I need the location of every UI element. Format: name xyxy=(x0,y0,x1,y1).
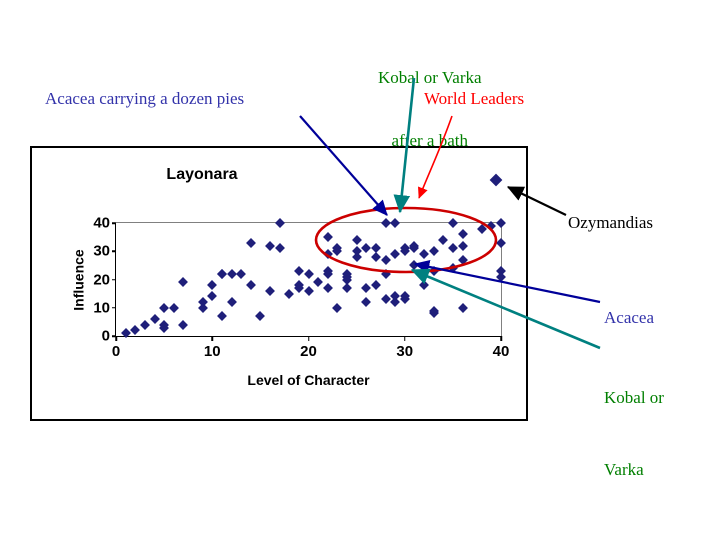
annotation-acacea: Acacea xyxy=(604,307,654,328)
scatter-point xyxy=(496,238,506,248)
scatter-point xyxy=(304,286,314,296)
y-axis-title: Influence xyxy=(71,249,87,310)
scatter-point xyxy=(275,218,285,228)
scatter-point xyxy=(227,297,237,307)
scatter-point xyxy=(304,269,314,279)
scatter-point xyxy=(496,218,506,228)
scatter-point xyxy=(371,280,381,290)
scatter-point xyxy=(381,269,391,279)
y-tick-label: 40 xyxy=(93,215,110,232)
annotation-kobal-varka-line2: Varka xyxy=(604,458,664,482)
x-tick-mark xyxy=(115,336,117,341)
plot-area: 010203040 010203040 Influence Level of C… xyxy=(115,223,501,337)
chart-title: Layonara xyxy=(32,166,372,184)
x-tick-label: 30 xyxy=(396,343,413,360)
scatter-point xyxy=(217,311,227,321)
scatter-point xyxy=(150,314,160,324)
scatter-point xyxy=(207,280,217,290)
x-tick-label: 20 xyxy=(300,343,317,360)
scatter-point xyxy=(429,266,439,276)
scatter-point xyxy=(284,289,294,299)
y-tick-label: 30 xyxy=(93,243,110,260)
y-tick-mark xyxy=(112,222,116,224)
scatter-point xyxy=(255,311,265,321)
scatter-point xyxy=(323,283,333,293)
annotation-kobal-bath-line1: Kobal or Varka xyxy=(378,67,482,88)
scatter-point xyxy=(236,269,246,279)
scatter-point xyxy=(458,229,468,239)
scatter-point xyxy=(371,252,381,262)
scatter-point xyxy=(390,249,400,259)
x-tick-mark xyxy=(500,336,502,341)
scatter-point xyxy=(169,303,179,313)
scatter-point xyxy=(458,303,468,313)
scatter-point xyxy=(458,255,468,265)
scatter-point xyxy=(458,241,468,251)
scatter-point xyxy=(448,243,458,253)
scatter-point xyxy=(323,232,333,242)
scatter-point xyxy=(217,269,227,279)
scatter-point xyxy=(178,320,188,330)
y-tick-label: 20 xyxy=(93,271,110,288)
scatter-point xyxy=(361,243,371,253)
x-tick-label: 40 xyxy=(493,343,510,360)
scatter-point xyxy=(265,286,275,296)
annotation-kobal-or-varka: Kobal or Varka xyxy=(604,338,664,530)
scatter-point xyxy=(390,218,400,228)
x-axis-title: Level of Character xyxy=(116,372,501,388)
scatter-point xyxy=(419,249,429,259)
scatter-point xyxy=(275,243,285,253)
x-tick-label: 0 xyxy=(112,343,120,360)
scatter-point xyxy=(448,263,458,273)
scatter-point xyxy=(409,260,419,270)
gridline-y-40 xyxy=(116,222,501,223)
scatter-point xyxy=(207,291,217,301)
scatter-point xyxy=(438,235,448,245)
scatter-point xyxy=(294,266,304,276)
y-tick-label: 10 xyxy=(93,299,110,316)
scatter-point xyxy=(371,243,381,253)
scatter-point xyxy=(130,325,140,335)
scatter-point xyxy=(361,297,371,307)
annotation-acacea-carrying-pies: Acacea carrying a dozen pies xyxy=(45,88,244,109)
scatter-point xyxy=(352,235,362,245)
y-tick-mark xyxy=(112,251,116,253)
scatter-point xyxy=(159,303,169,313)
chart-frame: Layonara 010203040 010203040 Influence L… xyxy=(30,146,528,421)
y-tick-mark xyxy=(112,279,116,281)
screenshot-root: Acacea carrying a dozen pies Kobal or Va… xyxy=(0,0,720,540)
scatter-point xyxy=(429,246,439,256)
y-tick-label: 0 xyxy=(102,328,110,345)
scatter-point xyxy=(419,280,429,290)
scatter-point xyxy=(332,303,342,313)
scatter-point xyxy=(381,218,391,228)
annotation-world-leaders: World Leaders xyxy=(424,88,524,109)
x-tick-mark xyxy=(212,336,214,341)
y-tick-mark xyxy=(112,307,116,309)
scatter-point xyxy=(246,280,256,290)
scatter-point xyxy=(265,241,275,251)
annotation-kobal-varka-line1: Kobal or xyxy=(604,386,664,410)
x-tick-mark xyxy=(308,336,310,341)
scatter-point xyxy=(313,277,323,287)
scatter-point xyxy=(178,277,188,287)
scatter-point xyxy=(246,238,256,248)
x-tick-mark xyxy=(404,336,406,341)
x-tick-label: 10 xyxy=(204,343,221,360)
scatter-point xyxy=(140,320,150,330)
scatter-point xyxy=(448,218,458,228)
annotation-ozymandias: Ozymandias xyxy=(568,212,653,233)
scatter-point xyxy=(381,255,391,265)
